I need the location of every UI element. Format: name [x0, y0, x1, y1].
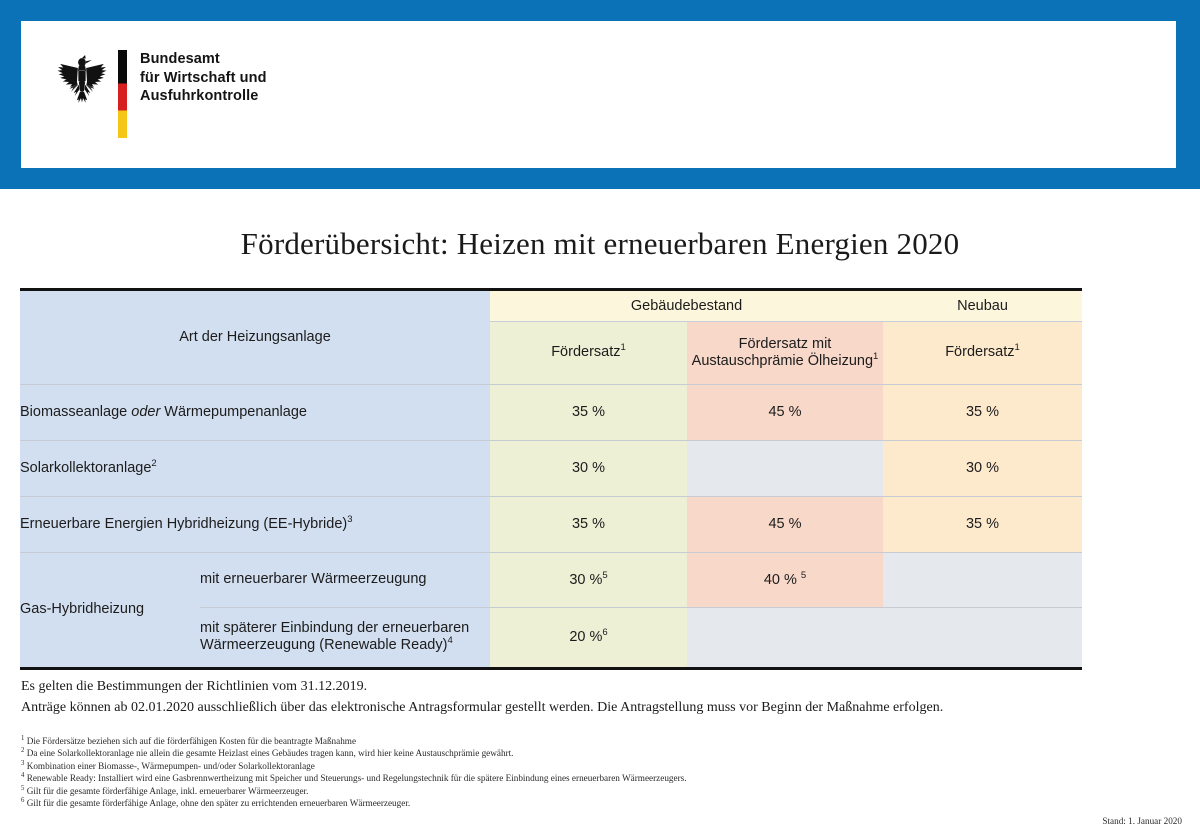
- footnote-marker: 2: [21, 747, 24, 754]
- cell-austauschpraemie-empty: [687, 440, 883, 496]
- row-label-text: Solarkollektoranlage: [20, 460, 151, 476]
- row-label-gas-hybridheizung-group: Gas-Hybridheizung mit erneuerbarer Wärme…: [20, 552, 490, 667]
- col-header-foerdersatz-neubau: Fördersatz1: [883, 321, 1082, 384]
- footnote-item: 4 Renewable Ready: Installiert wird eine…: [21, 772, 1161, 784]
- row-sublabel-line2: Wärmeerzeugung (Renewable Ready): [200, 637, 447, 653]
- cell-value: 30 %: [569, 572, 602, 588]
- row-label-emphasis: oder: [131, 404, 160, 420]
- footnote-marker: 1: [873, 351, 878, 362]
- col-header-austauschpraemie-line1: Fördersatz mit: [739, 336, 832, 352]
- logo-text: Bundesamt für Wirtschaft und Ausfuhrkont…: [140, 49, 267, 106]
- footnote-marker: 5: [801, 570, 806, 581]
- row-sublabel-renewable-ready: mit späterer Einbindung der erneuerbaren…: [200, 608, 490, 667]
- cell-foerdersatz-bestand: 35 %: [490, 496, 687, 552]
- footnote-marker: 3: [21, 760, 24, 767]
- footnote-text: Die Fördersätze beziehen sich auf die fö…: [27, 736, 356, 746]
- footnote-marker: 4: [447, 635, 452, 646]
- footnote-text: Da eine Solarkollektoranlage nie allein …: [27, 748, 514, 758]
- cell-foerdersatz-neubau-empty: [883, 607, 1082, 666]
- footnote-marker: 1: [1015, 342, 1020, 353]
- footnote-item: 3 Kombination einer Biomasse-, Wärmepump…: [21, 760, 1161, 772]
- col-group-header-gebaeudebestand: Gebäudebestand: [490, 291, 883, 321]
- footnote-marker: 5: [602, 570, 607, 581]
- cell-value: 20 %: [569, 629, 602, 645]
- footnote-marker: 2: [151, 458, 156, 469]
- cell-austauschpraemie: 45 %: [687, 384, 883, 440]
- row-label-ee-hybride: Erneuerbare Energien Hybridheizung (EE-H…: [20, 496, 490, 552]
- cell-foerdersatz-neubau: 35 %: [883, 496, 1082, 552]
- row-label-part-1: Biomasseanlage: [20, 404, 131, 420]
- col-header-foerdersatz-bestand: Fördersatz1: [490, 321, 687, 384]
- cell-austauschpraemie: 40 % 5: [687, 552, 883, 607]
- footnote-marker: 3: [347, 514, 352, 525]
- cell-foerdersatz-neubau: 30 %: [883, 440, 1082, 496]
- table-row: Erneuerbare Energien Hybridheizung (EE-H…: [20, 496, 1082, 552]
- logo-panel: Bundesamt für Wirtschaft und Ausfuhrkont…: [21, 21, 1176, 168]
- logo-line-1: Bundesamt: [140, 50, 267, 69]
- cell-foerdersatz-bestand: 30 %: [490, 440, 687, 496]
- row-sublabel-line1: mit späterer Einbindung der erneuerbaren: [200, 620, 469, 636]
- table-row: Gas-Hybridheizung mit erneuerbarer Wärme…: [20, 552, 1082, 607]
- row-label-gas-hybridheizung: Gas-Hybridheizung: [20, 553, 200, 667]
- row-label-text: Erneuerbare Energien Hybridheizung (EE-H…: [20, 516, 347, 532]
- row-label-part-2: Wärmepumpenanlage: [160, 404, 307, 420]
- logo-line-2: für Wirtschaft und: [140, 69, 267, 88]
- table-group-header-row: Art der Heizungsanlage Gebäudebestand Ne…: [20, 291, 1082, 321]
- footnote-text: Gilt für die gesamte förderfähige Anlage…: [27, 798, 410, 808]
- revision-date: Stand: 1. Januar 2020: [1102, 816, 1182, 826]
- footnote-item: 6 Gilt für die gesamte förderfähige Anla…: [21, 797, 1161, 809]
- footnote-text: Gilt für die gesamte förderfähige Anlage…: [27, 786, 309, 796]
- col-header-foerdersatz-neubau-label: Fördersatz: [945, 344, 1014, 360]
- cell-austauschpraemie: 45 %: [687, 496, 883, 552]
- cell-foerdersatz-bestand: 20 %6: [490, 607, 687, 666]
- footnote-list: 1 Die Fördersätze beziehen sich auf die …: [21, 735, 1161, 809]
- footnote-item: 1 Die Fördersätze beziehen sich auf die …: [21, 735, 1161, 747]
- page-title: Förderübersicht: Heizen mit erneuerbaren…: [0, 226, 1200, 262]
- footnote-marker: 1: [621, 342, 626, 353]
- cell-foerdersatz-bestand: 30 %5: [490, 552, 687, 607]
- cell-value: 40 %: [764, 572, 797, 588]
- footnote-marker: 1: [21, 735, 24, 742]
- footnote-marker: 4: [21, 772, 24, 779]
- general-notes: Es gelten die Bestimmungen der Richtlini…: [21, 676, 1161, 718]
- row-label-biomasse-waermepumpe: Biomasseanlage oder Wärmepumpenanlage: [20, 384, 490, 440]
- header-banner: Bundesamt für Wirtschaft und Ausfuhrkont…: [0, 0, 1200, 189]
- logo-line-3: Ausfuhrkontrolle: [140, 87, 267, 106]
- cell-foerdersatz-bestand: 35 %: [490, 384, 687, 440]
- col-header-foerdersatz-bestand-label: Fördersatz: [551, 344, 620, 360]
- footnote-item: 5 Gilt für die gesamte förderfähige Anla…: [21, 785, 1161, 797]
- col-header-heating-type: Art der Heizungsanlage: [20, 291, 490, 384]
- footnote-marker: 5: [21, 785, 24, 792]
- row-label-solarkollektor: Solarkollektoranlage2: [20, 440, 490, 496]
- bafa-logo: Bundesamt für Wirtschaft und Ausfuhrkont…: [56, 49, 267, 138]
- row-sublabel-mit-erneuerbarer-waermeerzeugung: mit erneuerbarer Wärmeerzeugung: [200, 553, 490, 608]
- footnote-marker: 6: [602, 627, 607, 638]
- cell-foerdersatz-neubau: 35 %: [883, 384, 1082, 440]
- note-line-1: Es gelten die Bestimmungen der Richtlini…: [21, 676, 1161, 697]
- footnote-text: Renewable Ready: Installiert wird eine G…: [27, 773, 687, 783]
- subsidy-table: Art der Heizungsanlage Gebäudebestand Ne…: [20, 288, 1082, 670]
- col-header-austauschpraemie: Fördersatz mit Austauschprämie Ölheizung…: [687, 321, 883, 384]
- bundesadler-icon: [56, 51, 108, 111]
- footnote-text: Kombination einer Biomasse-, Wärmepumpen…: [27, 761, 315, 771]
- footnote-marker: 6: [21, 797, 24, 804]
- cell-foerdersatz-neubau-empty: [883, 552, 1082, 607]
- note-line-2: Anträge können ab 02.01.2020 ausschließl…: [21, 697, 1161, 718]
- col-header-austauschpraemie-line2: Austauschprämie Ölheizung: [692, 353, 873, 369]
- footnote-item: 2 Da eine Solarkollektoranlage nie allei…: [21, 747, 1161, 759]
- german-flag-bar-icon: [118, 50, 127, 138]
- table-row: Biomasseanlage oder Wärmepumpenanlage 35…: [20, 384, 1082, 440]
- table-row: Solarkollektoranlage2 30 % 30 %: [20, 440, 1082, 496]
- col-group-header-neubau: Neubau: [883, 291, 1082, 321]
- cell-austauschpraemie-empty: [687, 607, 883, 666]
